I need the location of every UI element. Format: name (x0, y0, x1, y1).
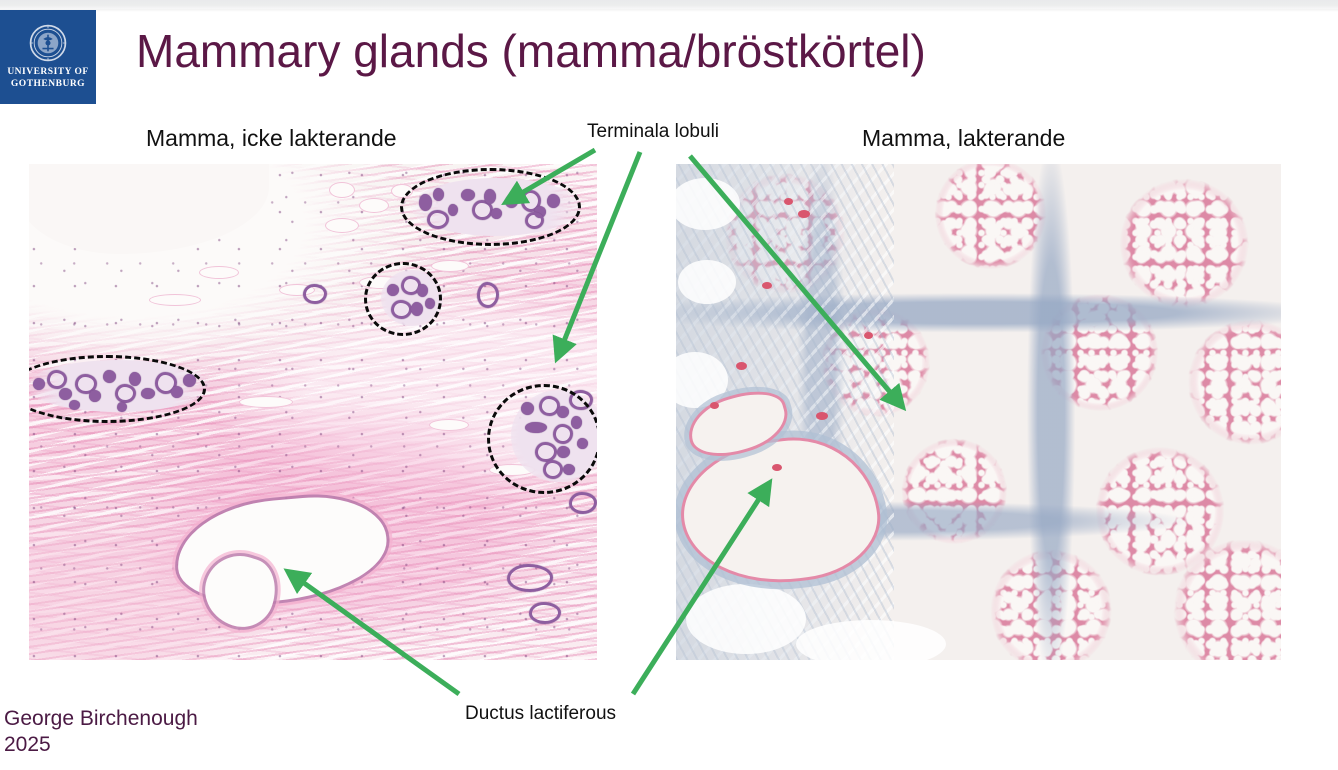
adipocyte (149, 294, 201, 306)
label-ductus-lactiferous: Ductus lactiferous (465, 700, 616, 728)
logo-line-1: UNIVERSITY OF (7, 67, 88, 77)
caption-non-lactating: Mamma, icke lakterande (146, 124, 397, 152)
adipocyte (431, 260, 469, 272)
erythrocyte-cluster (816, 412, 828, 420)
adipocyte (329, 182, 355, 198)
logo-line-2: GOTHENBURG (11, 79, 85, 89)
footer-year: 2025 (4, 732, 198, 758)
stromal-space (686, 584, 806, 654)
micrograph-non-lactating-mammary-gland (29, 164, 597, 660)
label-terminala-lobuli: Terminala lobuli (587, 118, 719, 146)
erythrocyte-cluster (762, 282, 772, 289)
adipocyte (359, 198, 389, 213)
erythrocyte-cluster (864, 332, 873, 339)
erythrocyte-cluster (772, 464, 782, 471)
footer-credit: George Birchenough 2025 (4, 706, 198, 758)
university-seal-icon (29, 24, 67, 62)
stromal-space (678, 260, 736, 304)
adipocyte (429, 419, 469, 431)
lobule-ellipse-mid (364, 262, 442, 336)
erythrocyte-cluster (784, 198, 793, 205)
footer-author: George Birchenough (4, 706, 198, 732)
adipocyte (199, 266, 239, 279)
slide-top-edge-shadow (0, 9, 1338, 12)
slide-top-edge-band (0, 0, 1338, 9)
erythrocyte-cluster (798, 210, 810, 218)
duct-cross-section (529, 602, 561, 624)
erythrocyte-cluster (710, 402, 719, 409)
caption-lactating: Mamma, lakterande (862, 124, 1065, 152)
stromal-space (796, 620, 946, 660)
duct-cross-section (303, 284, 327, 304)
page-title: Mammary glands (mamma/bröstkörtel) (136, 22, 1096, 80)
duct-cross-section (477, 282, 499, 308)
duct-cross-section (569, 492, 597, 514)
adipocyte (325, 218, 359, 233)
lobule-ellipse-top (400, 168, 581, 246)
adipocyte (239, 396, 293, 408)
duct-cross-section (507, 564, 553, 592)
lobule-ellipse-right (487, 384, 597, 494)
micrograph-lactating-mammary-gland (676, 164, 1281, 660)
university-of-gothenburg-logo: UNIVERSITY OF GOTHENBURG (0, 10, 96, 104)
erythrocyte-cluster (736, 362, 747, 370)
